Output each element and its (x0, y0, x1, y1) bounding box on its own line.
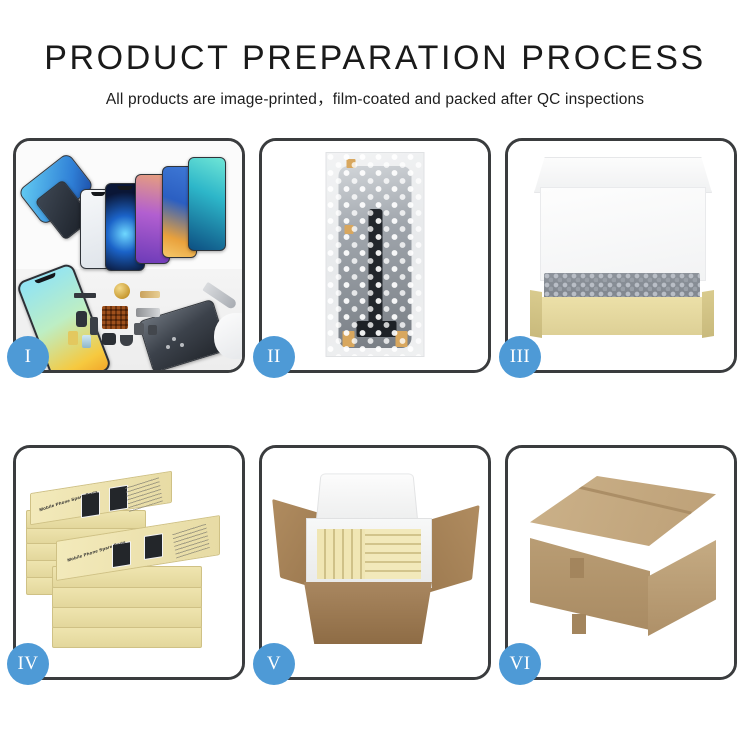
carton-foam-image (262, 448, 488, 677)
flex-cable-gold-icon (140, 291, 160, 298)
glass-piece-icon (82, 335, 91, 348)
carton-body-icon (304, 582, 432, 644)
step-badge-5: V (253, 643, 295, 685)
screw-tray-icon (102, 306, 128, 329)
foam-box-image (508, 141, 734, 370)
bubble-wrap-image (262, 141, 488, 370)
stacked-boxes-image: Mobile Phone Spare Parts Mobile Phone Sp… (16, 448, 242, 677)
process-step-panel-3[interactable]: III (505, 138, 737, 373)
carton-left-face-icon (530, 538, 650, 630)
screw-icon (172, 337, 176, 341)
earpiece-icon (102, 333, 116, 345)
phone-screen-teal-icon (188, 157, 226, 251)
taptic-engine-icon (120, 335, 133, 346)
vibrator-icon (134, 323, 144, 335)
camera-module-icon (76, 311, 87, 327)
speaker-module-icon (114, 283, 130, 299)
screw-icon (166, 345, 170, 349)
carton-top-face-icon (530, 476, 716, 546)
sealed-carton-image (508, 448, 734, 677)
screen-print-icon (144, 533, 163, 560)
phone-parts-image (16, 141, 242, 370)
chip-icon (148, 325, 157, 335)
process-step-panel-1[interactable]: I (13, 138, 245, 373)
carton-tape-icon (572, 614, 586, 634)
process-step-panel-2[interactable]: II (259, 138, 491, 373)
screw-icon (180, 343, 184, 347)
step-badge-2: II (253, 336, 295, 378)
battery-connector-icon (74, 293, 96, 298)
step-badge-3: III (499, 336, 541, 378)
stacked-box (52, 606, 202, 628)
page-subtitle: All products are image-printed，film-coat… (0, 87, 750, 109)
carton-seam-icon (565, 482, 693, 514)
bubble-texture (327, 153, 424, 356)
process-step-panel-5[interactable]: V (259, 445, 491, 680)
process-step-panel-6[interactable]: VI (505, 445, 737, 680)
step-badge-6: VI (499, 643, 541, 685)
hand-icon (214, 313, 242, 359)
stacked-box (52, 626, 202, 648)
bubble-wrap-bag-icon (326, 152, 425, 357)
process-step-panel-4[interactable]: Mobile Phone Spare Parts Mobile Phone Sp… (13, 445, 245, 680)
carton-tape-icon (570, 558, 584, 578)
step-badge-1: I (7, 336, 49, 378)
battery-cell-icon (68, 331, 78, 345)
foam-liner-icon (306, 518, 432, 588)
sim-tray-icon (90, 317, 98, 335)
step-badge-4: IV (7, 643, 49, 685)
carton-right-face-icon (648, 540, 716, 636)
page-title: PRODUCT PREPARATION PROCESS (0, 41, 750, 77)
stacked-box (52, 586, 202, 608)
process-grid: I II III (13, 138, 737, 680)
foam-sheet-icon (540, 187, 706, 281)
packed-yellow-boxes-icon (317, 529, 421, 579)
yellow-box-base-icon (532, 297, 712, 335)
flex-cable-gray-icon (136, 308, 160, 317)
header: PRODUCT PREPARATION PROCESS All products… (0, 0, 750, 109)
